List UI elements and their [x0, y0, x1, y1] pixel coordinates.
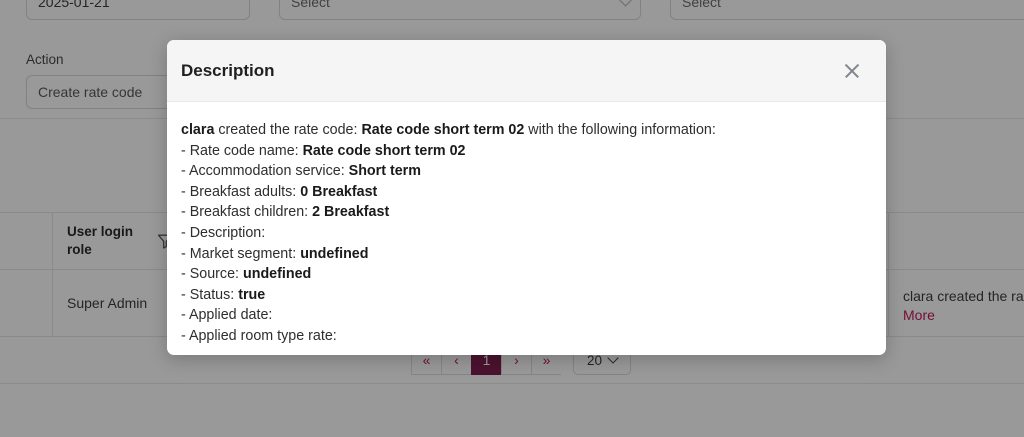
modal-line-emphasis: undefined [243, 266, 311, 282]
modal-line-emphasis: 2 Breakfast [312, 204, 389, 220]
modal-header: Description [167, 40, 886, 102]
modal-line-text: - Status: [181, 287, 238, 303]
modal-line: clara created the rate code: Rate code s… [181, 120, 864, 141]
modal-line-text: - Market segment: [181, 246, 300, 262]
modal-line: - Breakfast children: 2 Breakfast [181, 202, 864, 223]
modal-title: Description [181, 61, 275, 81]
modal-line: - Breakfast adults: 0 Breakfast [181, 182, 864, 203]
modal-line-emphasis: Short term [349, 163, 421, 179]
modal-line: - Accommodation service: Short term [181, 161, 864, 182]
modal-line: - Status: true [181, 285, 864, 306]
modal-line: - Description: [181, 223, 864, 244]
modal-line-emphasis: true [238, 287, 265, 303]
modal-line-text: - Applied date: [181, 307, 272, 323]
modal-line-text: - Breakfast adults: [181, 184, 300, 200]
modal-line-emphasis: undefined [300, 246, 368, 262]
close-icon[interactable] [840, 59, 864, 83]
modal-line: - Market segment: undefined [181, 244, 864, 265]
modal-line-text: with the following information: [524, 122, 716, 138]
modal-line-emphasis: 0 Breakfast [300, 184, 377, 200]
modal-body: clara created the rate code: Rate code s… [167, 102, 886, 355]
modal-line-text: - Source: [181, 266, 243, 282]
modal-line-text: - Description: [181, 225, 265, 241]
modal-line-emphasis: Rate code short term 02 [303, 143, 466, 159]
modal-line-emphasis: Rate code short term 02 [361, 122, 524, 138]
modal-line: - Source: undefined [181, 264, 864, 285]
modal-line: - Applied date: [181, 305, 864, 326]
modal-line: - Applied room type rate: [181, 326, 864, 347]
modal-line: - Rate code name: Rate code short term 0… [181, 141, 864, 162]
modal-line-text: - Applied room type rate: [181, 328, 337, 344]
description-modal: Description clara created the rate code:… [167, 40, 886, 355]
modal-line-emphasis: clara [181, 122, 214, 138]
modal-line-text: - Rate code name: [181, 143, 303, 159]
modal-line-text: - Accommodation service: [181, 163, 349, 179]
modal-line-text: created the rate code: [214, 122, 361, 138]
modal-line-text: - Breakfast children: [181, 204, 312, 220]
